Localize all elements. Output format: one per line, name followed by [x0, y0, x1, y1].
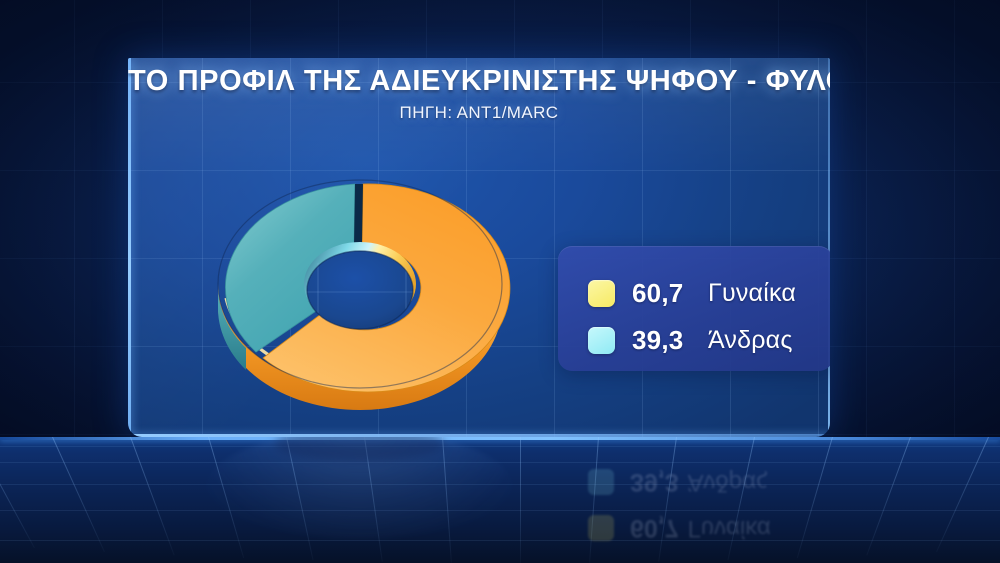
legend-reflection: 60,7 Γυναίκα 39,3 Άνδρας — [560, 451, 835, 551]
legend-reflection-label: Γυναίκα — [688, 514, 771, 542]
source-subtitle: ΠΗΓΗ: ΑΝΤ1/MARC — [128, 103, 830, 123]
legend-swatch-gynaika — [588, 280, 615, 307]
donut-chart-svg — [200, 136, 520, 426]
legend-reflection-swatch — [588, 469, 614, 495]
legend-swatch-andras — [588, 327, 615, 354]
legend-label-gynaika: Γυναίκα — [708, 279, 796, 308]
legend-reflection-row: 39,3 Άνδρας — [560, 459, 835, 505]
legend-value-gynaika: 60,7 — [632, 278, 698, 309]
legend-item-gynaika[interactable]: 60,7 Γυναίκα — [588, 270, 830, 317]
chart-panel: ΤΟ ΠΡΟΦΙΛ ΤΗΣ ΑΔΙΕΥΚΡΙΝΙΣΤΗΣ ΨΗΦΟΥ - ΦΥΛ… — [128, 58, 830, 437]
legend-reflection-value: 39,3 — [630, 468, 679, 497]
reflective-floor: 60,7 Γυναίκα 39,3 Άνδρας — [0, 437, 1000, 563]
page-title: ΤΟ ΠΡΟΦΙΛ ΤΗΣ ΑΔΙΕΥΚΡΙΝΙΣΤΗΣ ΨΗΦΟΥ - ΦΥΛ… — [128, 65, 830, 98]
legend-label-andras: Άνδρας — [708, 326, 793, 355]
broadcast-graphic-stage: ΤΟ ΠΡΟΦΙΛ ΤΗΣ ΑΔΙΕΥΚΡΙΝΙΣΤΗΣ ΨΗΦΟΥ - ΦΥΛ… — [0, 0, 1000, 563]
legend-item-andras[interactable]: 39,3 Άνδρας — [588, 317, 830, 364]
donut-chart — [200, 136, 520, 426]
legend-reflection-swatch — [588, 515, 614, 541]
legend-reflection-value: 60,7 — [630, 514, 679, 543]
legend-panel: 60,7 Γυναίκα 39,3 Άνδρας — [558, 246, 830, 371]
legend-reflection-row: 60,7 Γυναίκα — [560, 505, 835, 551]
legend-value-andras: 39,3 — [632, 325, 698, 356]
donut-slice-gap — [354, 184, 363, 246]
legend-reflection-label: Άνδρας — [688, 468, 768, 496]
